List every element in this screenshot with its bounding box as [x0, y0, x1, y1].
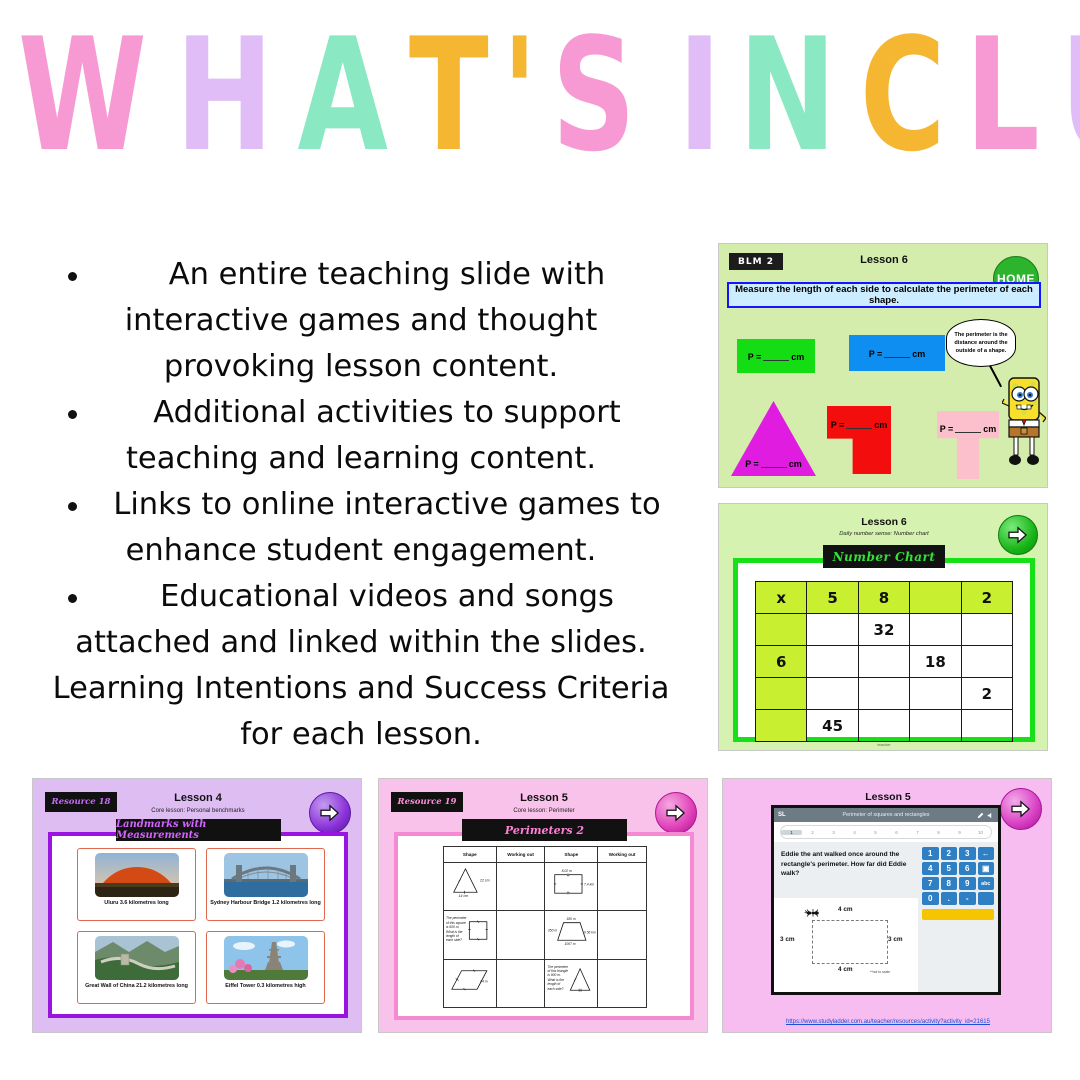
keypad-key-6[interactable]: 6 — [959, 862, 976, 875]
feature-line: for each lesson. — [22, 712, 700, 758]
label-802m: 8.02 m — [562, 869, 573, 873]
label-056km: 0.56 km — [584, 931, 596, 935]
bullet-dot — [68, 272, 77, 281]
col-header-shape-2: Shape — [545, 847, 598, 863]
arrow-right-icon — [319, 804, 341, 822]
label-22cm: 22 cm — [479, 879, 490, 883]
step-9[interactable]: 9 — [949, 830, 970, 835]
great-wall-of-china-photo — [95, 936, 179, 980]
chart-frame: x58232618245 — [733, 558, 1035, 742]
step-5[interactable]: 5 — [865, 830, 886, 835]
p-prefix-2: P = — [869, 349, 883, 359]
keypad-key-8[interactable]: 8 — [941, 877, 958, 890]
title-letter-11: U — [1061, 18, 1080, 174]
not-to-scale-note: **not to scale — [870, 970, 890, 974]
table-row: 22 cm 14 cm 8. — [444, 863, 647, 911]
chart-cell-r2-c3[interactable] — [910, 678, 961, 710]
number-chart-table: x58232618245 — [755, 581, 1013, 742]
keypad-key-3[interactable]: 3 — [959, 847, 976, 860]
uluru-photo — [95, 853, 179, 897]
table-row: x582 — [756, 582, 1013, 614]
activity-left-pane: Eddie the ant walked once around the rec… — [774, 842, 918, 995]
feature-line: teaching and learning content. — [22, 436, 700, 482]
chart-cell-r3-c3[interactable] — [910, 710, 961, 742]
keypad-key-5[interactable]: 5 — [941, 862, 958, 875]
cell-parallelogram: 34 m — [444, 959, 497, 1007]
topic-banner: Perimeters 2 — [462, 819, 627, 841]
feature-line: interactive games and thought — [22, 298, 700, 344]
step-pager[interactable]: 12345678910 — [780, 825, 992, 839]
dim-right: 3 cm — [888, 936, 903, 943]
list-item-label: Sydney Harbour Bridge 1.2 kilometres lon… — [209, 900, 322, 907]
list-item[interactable]: Sydney Harbour Bridge 1.2 kilometres lon… — [206, 848, 325, 921]
keypad-key-1[interactable]: 1 — [922, 847, 939, 860]
activity-link[interactable]: https://www.studyladder.com.au/teacher/r… — [723, 1019, 1052, 1025]
keypad-grid[interactable]: 123←456▣789abc0.- — [922, 847, 994, 905]
chart-cell-r1-c0: 6 — [756, 646, 807, 678]
step-1[interactable]: 1 — [781, 830, 802, 835]
speech-bubble: The perimeter is the distance around the… — [946, 319, 1016, 367]
label-1007m: 1007 m — [565, 942, 576, 946]
title-letter-1: H — [176, 18, 272, 174]
p-suffix-3: cm — [789, 459, 802, 469]
blank-line-5 — [955, 423, 981, 433]
feature-text: An entire teaching slide with — [117, 257, 606, 292]
topic-banner: Landmarks with Measurements — [116, 819, 281, 841]
title-letter-5: S — [552, 18, 634, 174]
chart-cell-r2-c1[interactable] — [807, 678, 858, 710]
keypad-key-0[interactable]: 0 — [922, 892, 939, 905]
col-header-working-2: Working out — [598, 847, 647, 863]
perimeter-worksheet-table: Shape Working out Shape Working out 22 c… — [443, 846, 647, 1008]
title-letter-6 — [648, 18, 669, 174]
bullet-dot — [68, 410, 77, 419]
rectangle-figure: 8.02 m 7.4 km — [545, 863, 597, 900]
chart-cell-r3-c4[interactable] — [961, 710, 1012, 742]
list-item[interactable]: Uluru 3.6 kilometres long — [77, 848, 196, 921]
chart-cell-r3-c2[interactable] — [858, 710, 909, 742]
triangle-figure — [545, 960, 597, 997]
dim-bottom: 4 cm — [838, 966, 853, 973]
instruction-banner: Measure the length of each side to calcu… — [727, 282, 1041, 308]
chart-cell-r2-c0 — [756, 678, 807, 710]
table-row: 32 — [756, 614, 1013, 646]
list-item-label: Uluru 3.6 kilometres long — [103, 900, 169, 907]
landmark-grid: Uluru 3.6 kilometres long — [77, 848, 325, 1004]
cell-working-out[interactable] — [598, 863, 647, 911]
features-list: An entire teaching slide withinteractive… — [22, 252, 700, 758]
pencil-icon[interactable] — [977, 812, 984, 819]
cell-square-question: The perimeter of this square is 600 m. W… — [444, 911, 497, 959]
p-suffix-1: cm — [791, 352, 804, 362]
list-item[interactable]: Great Wall of China 21.2 kilometres long — [77, 931, 196, 1004]
chart-cell-r0-c0 — [756, 614, 807, 646]
cell-working-out[interactable] — [496, 959, 545, 1007]
spongebob-character — [1002, 372, 1046, 470]
slide-footnote: teacher — [719, 742, 1048, 747]
chart-cell-r0-c2[interactable]: 32 — [858, 614, 909, 646]
p-prefix-4: P = — [831, 420, 845, 430]
keypad-key-abc[interactable]: abc — [978, 877, 995, 890]
step-4[interactable]: 4 — [844, 830, 865, 835]
isosceles-triangle-figure: 22 cm 14 cm — [444, 863, 496, 900]
trapezium-figure: 180 m 350 m 0.56 km 1007 m — [545, 911, 597, 948]
feature-line: enhance student engagement. — [22, 528, 700, 574]
label-350m: 350 m — [548, 929, 557, 933]
arrow-right-icon — [1007, 526, 1029, 544]
chart-cell-r0-c4[interactable] — [961, 614, 1012, 646]
feature-line: Learning Intentions and Success Criteria — [22, 666, 700, 712]
question-box: Eddie the ant walked once around the rec… — [774, 842, 918, 898]
title-letter-4: ' — [502, 18, 535, 174]
speaker-icon[interactable] — [987, 812, 994, 819]
table-row: 2 — [756, 678, 1013, 710]
chart-cell-r1-c4[interactable] — [961, 646, 1012, 678]
cell-working-out[interactable] — [598, 911, 647, 959]
slide-preview-perimeters2[interactable]: Resource 19 Lesson 5 Core lesson: Perime… — [378, 778, 708, 1033]
title-letter-9: C — [860, 18, 944, 174]
rectangle-diagram: 4 cm 3 cm 3 cm 4 cm **not to scale — [774, 898, 918, 995]
eiffel-tower-photo — [224, 936, 308, 980]
keypad-key-▣[interactable]: ▣ — [978, 862, 995, 875]
shape-rectangle-blue: P =cm — [849, 335, 945, 371]
sydney-harbour-bridge-photo — [224, 853, 308, 897]
slide-preview-studyladder[interactable]: Lesson 5 SL Perimeter of squares and rec… — [722, 778, 1052, 1033]
p-prefix-3: P = — [745, 459, 759, 469]
step-8[interactable]: 8 — [928, 830, 949, 835]
chart-cell-r0-c1[interactable] — [807, 614, 858, 646]
cell-triangle: 22 cm 14 cm — [444, 863, 497, 911]
step-3[interactable]: 3 — [823, 830, 844, 835]
chart-cell-r1-c3[interactable]: 18 — [910, 646, 961, 678]
cell-rectangle: 8.02 m 7.4 km — [545, 863, 598, 911]
title-letter-2: A — [297, 18, 385, 174]
step-10[interactable]: 10 — [970, 830, 991, 835]
p-suffix-5: cm — [983, 424, 996, 434]
chart-header-cell-2: 8 — [858, 582, 909, 614]
diagram-rectangle — [812, 920, 888, 964]
blank-line-2 — [884, 348, 910, 358]
next-arrow-button[interactable] — [655, 792, 697, 834]
shape-l-red: P =cm — [827, 406, 891, 474]
feature-line: Links to online interactive games to — [22, 482, 700, 528]
chart-cell-r3-c1[interactable]: 45 — [807, 710, 858, 742]
list-item-label: Eiffel Tower 0.3 kilometres high — [224, 983, 306, 990]
next-arrow-button[interactable] — [998, 515, 1038, 555]
app-title: Perimeter of squares and rectangles — [774, 812, 998, 818]
keypad-key--[interactable]: - — [959, 892, 976, 905]
cell-working-out[interactable] — [598, 959, 647, 1007]
chart-cell-r1-c1[interactable] — [807, 646, 858, 678]
label-14cm: 14 cm — [459, 894, 469, 898]
chart-header-cell-0: x — [756, 582, 807, 614]
feature-line: attached and linked within the slides. — [22, 620, 700, 666]
arrow-right-icon — [665, 804, 687, 822]
chart-cell-r3-c0 — [756, 710, 807, 742]
p-prefix-1: P = — [748, 352, 762, 362]
col-header-shape-1: Shape — [444, 847, 497, 863]
shape-triangle-magenta: P =cm — [731, 401, 816, 476]
app-toolbar[interactable] — [977, 812, 994, 819]
chart-header-cell-4: 2 — [961, 582, 1012, 614]
blank-line-4 — [846, 419, 872, 429]
list-item[interactable]: Eiffel Tower 0.3 kilometres high — [206, 931, 325, 1004]
step-6[interactable]: 6 — [886, 830, 907, 835]
p-prefix-5: P = — [940, 424, 954, 434]
cell-triangle-question: The perimeter of this triangle is 900 m.… — [545, 959, 598, 1007]
keypad-key-7[interactable]: 7 — [922, 877, 939, 890]
keypad-key-9[interactable]: 9 — [959, 877, 976, 890]
app-body: Eddie the ant walked once around the rec… — [774, 842, 998, 995]
slide-preview-landmarks[interactable]: Resource 18 Lesson 4 Core lesson: Person… — [32, 778, 362, 1033]
label-74km: 7.4 km — [584, 882, 594, 886]
shape-t-pink: P =cm — [937, 411, 999, 479]
table-row: The perimeter of this square is 600 m. W… — [444, 911, 647, 959]
chart-header-cell-3 — [910, 582, 961, 614]
cell-working-out[interactable] — [496, 863, 545, 911]
chart-cell-r0-c3[interactable] — [910, 614, 961, 646]
square-figure — [444, 911, 496, 948]
step-7[interactable]: 7 — [907, 830, 928, 835]
worksheet-panel: Shape Working out Shape Working out 22 c… — [394, 832, 694, 1020]
landmark-panel: Uluru 3.6 kilometres long — [48, 832, 348, 1018]
next-arrow-button[interactable] — [309, 792, 351, 834]
feature-line: Educational videos and songs — [22, 574, 700, 620]
bullet-dot — [68, 594, 77, 603]
dim-top: 4 cm — [838, 906, 853, 913]
numeric-keypad[interactable]: 123←456▣789abc0.- — [918, 842, 998, 995]
label-180m: 180 m — [567, 917, 576, 921]
label-34m: 34 m — [480, 979, 488, 983]
submit-button[interactable] — [922, 909, 994, 920]
chart-header-cell-1: 5 — [807, 582, 858, 614]
cell-working-out[interactable] — [496, 911, 545, 959]
feature-text: Educational videos and songs — [108, 579, 614, 614]
keypad-key-4[interactable]: 4 — [922, 862, 939, 875]
keypad-key-←[interactable]: ← — [978, 847, 995, 860]
question-text: Eddie the ant walked once around the rec… — [781, 850, 911, 879]
bullet-dot — [68, 502, 77, 511]
page-title: WHAT'S INCLUDED — [0, 24, 1080, 174]
next-arrow-button[interactable] — [1000, 788, 1042, 830]
slide-preview-perimeter[interactable]: BLM 2 Lesson 6 HOME Measure the length o… — [718, 243, 1048, 488]
table-row: 34 m The perimeter of this triangle is 9… — [444, 959, 647, 1007]
feature-line: provoking lesson content. — [22, 344, 700, 390]
studyladder-window[interactable]: SL Perimeter of squares and rectangles 1… — [771, 805, 1001, 995]
title-letter-3: T — [409, 18, 486, 174]
topic-banner: Number Chart — [823, 545, 945, 568]
chart-cell-r2-c4[interactable]: 2 — [961, 678, 1012, 710]
step-2[interactable]: 2 — [802, 830, 823, 835]
p-suffix-2: cm — [912, 349, 925, 359]
ant-icon — [804, 908, 820, 917]
col-header-working-1: Working out — [496, 847, 545, 863]
p-suffix-4: cm — [874, 420, 887, 430]
list-item-label: Great Wall of China 21.2 kilometres long — [84, 983, 189, 990]
slide-preview-number-chart[interactable]: Lesson 6 Daily number sense: Number char… — [718, 503, 1048, 751]
feature-line: An entire teaching slide with — [22, 252, 700, 298]
chart-cell-r2-c2[interactable] — [858, 678, 909, 710]
table-row: 618 — [756, 646, 1013, 678]
arrow-right-icon — [1010, 800, 1032, 818]
keypad-key-.[interactable]: . — [941, 892, 958, 905]
title-letter-0: W — [18, 18, 145, 174]
title-letter-10: L — [965, 18, 1037, 174]
feature-line: Additional activities to support — [22, 390, 700, 436]
shape-rectangle-green: P =cm — [737, 339, 815, 373]
whats-included-page: WHAT'S INCLUDED An entire teaching slide… — [0, 0, 1080, 1080]
blank-line-3 — [761, 458, 787, 468]
blank-line-1 — [763, 351, 789, 361]
keypad-key-blank[interactable] — [978, 892, 995, 905]
dim-left: 3 cm — [780, 936, 795, 943]
parallelogram-figure: 34 m — [444, 960, 496, 997]
keypad-key-2[interactable]: 2 — [941, 847, 958, 860]
chart-cell-r1-c2[interactable] — [858, 646, 909, 678]
app-title-bar: SL Perimeter of squares and rectangles — [774, 808, 998, 822]
title-letter-7: I — [678, 18, 719, 174]
table-row: 45 — [756, 710, 1013, 742]
feature-text: Links to online interactive games to — [61, 487, 660, 522]
title-letter-8: N — [739, 18, 835, 174]
feature-text: Additional activities to support — [101, 395, 620, 430]
cell-trapezium: 180 m 350 m 0.56 km 1007 m — [545, 911, 598, 959]
